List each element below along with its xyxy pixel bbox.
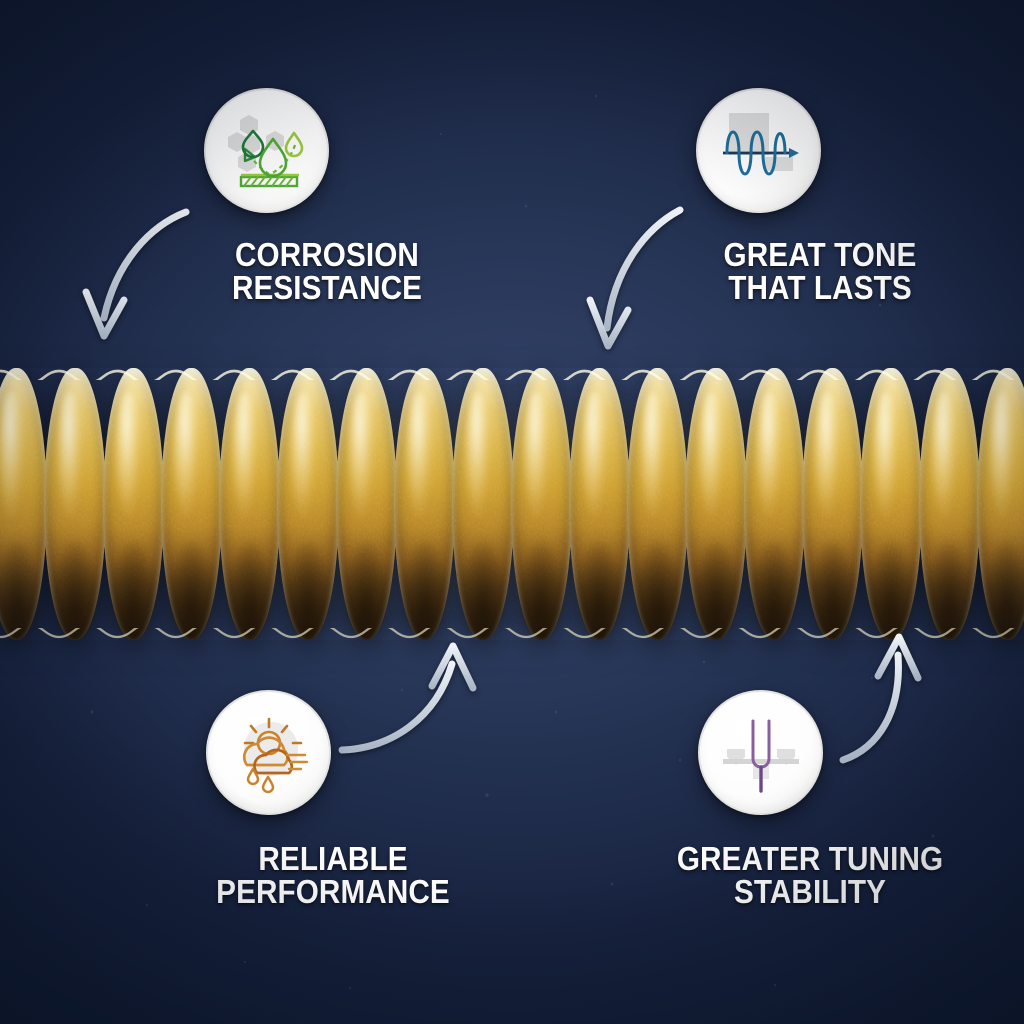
string-coils	[0, 368, 1024, 640]
feature-reliable-performance: RELIABLE PERFORMANCE	[196, 690, 496, 908]
string-coil	[161, 368, 222, 640]
string-coil	[0, 368, 47, 640]
feature-corrosion-resistance: CORROSION RESISTANCE	[190, 88, 490, 304]
infographic-canvas: CORROSION RESISTANCE	[0, 0, 1024, 1024]
caption-line-2: STABILITY	[648, 876, 972, 909]
string-coil	[452, 368, 513, 640]
string-coil	[103, 368, 164, 640]
badge-greater-tuning-stability	[698, 690, 823, 815]
string-coil	[977, 368, 1024, 640]
tuning-fork-balance-icon	[715, 707, 807, 799]
string-coil	[511, 368, 572, 640]
string-coil	[569, 368, 630, 640]
balance-beam	[723, 759, 799, 764]
badge-corrosion-resistance	[204, 88, 329, 213]
badge-reliable-performance	[206, 690, 331, 815]
string-coil	[919, 368, 980, 640]
feature-great-tone-that-lasts: GREAT TONE THAT LASTS	[690, 88, 990, 304]
guitar-string-image	[0, 368, 1024, 640]
string-coil	[685, 368, 746, 640]
string-coil	[744, 368, 805, 640]
caption-line-1: RELIABLE	[258, 840, 407, 877]
caption-greater-tuning-stability: GREATER TUNING STABILITY	[630, 843, 990, 908]
string-coil	[394, 368, 455, 640]
sound-wave-icon	[713, 105, 805, 197]
caption-corrosion-resistance: CORROSION RESISTANCE	[164, 239, 490, 304]
string-coil	[860, 368, 921, 640]
string-coil	[336, 368, 397, 640]
badge-great-tone-that-lasts	[696, 88, 821, 213]
caption-line-2: PERFORMANCE	[186, 876, 479, 909]
string-coil	[44, 368, 105, 640]
feature-greater-tuning-stability: GREATER TUNING STABILITY	[690, 690, 990, 908]
caption-great-tone-that-lasts: GREAT TONE THAT LASTS	[650, 239, 990, 304]
caption-line-1: GREATER TUNING	[677, 840, 943, 877]
string-coil	[802, 368, 863, 640]
caption-line-2: RESISTANCE	[180, 272, 473, 305]
string-coil	[627, 368, 688, 640]
sun-cloud-rain-weather-icon	[223, 707, 315, 799]
caption-line-2: THAT LASTS	[667, 272, 973, 305]
caption-line-1: GREAT TONE	[724, 236, 917, 273]
string-coil	[277, 368, 338, 640]
caption-line-1: CORROSION	[235, 236, 419, 273]
water-repellent-droplets-icon	[221, 105, 313, 197]
string-coil	[219, 368, 280, 640]
caption-reliable-performance: RELIABLE PERFORMANCE	[170, 843, 496, 908]
